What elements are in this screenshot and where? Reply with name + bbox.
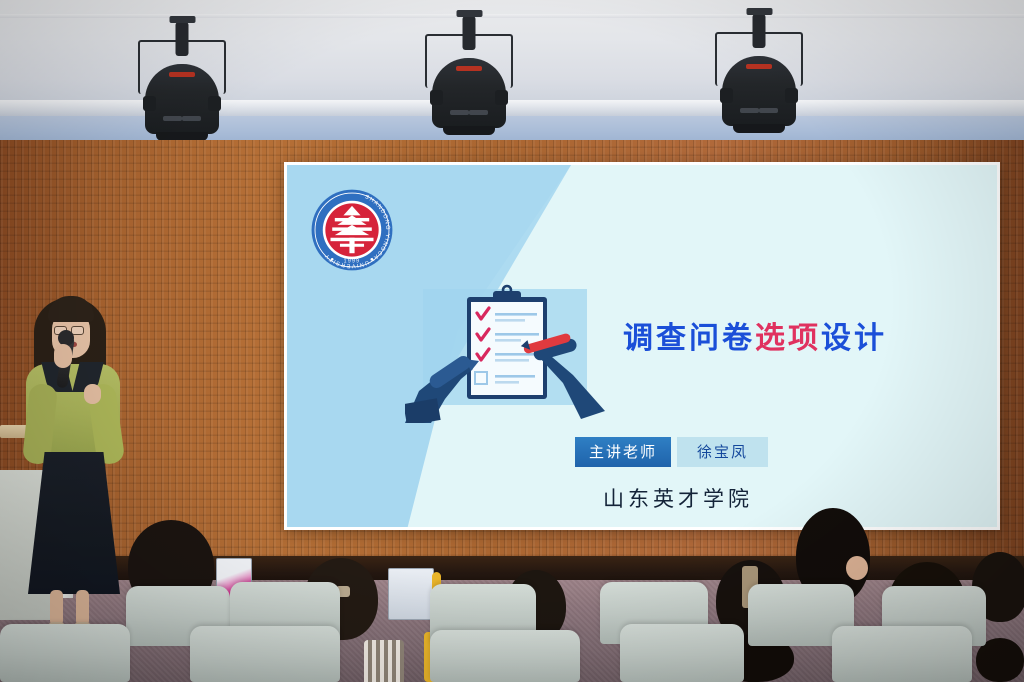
svg-text:1999: 1999 <box>344 259 361 265</box>
lecture-hall-scene: SHANDONG YINGCAI UNIVERSITY 1999 <box>0 0 1024 682</box>
audience-chair <box>190 626 340 682</box>
audience-hand <box>846 556 868 580</box>
light-indicator-icon <box>746 64 772 69</box>
slide-school-name: 山东英才学院 <box>603 483 753 513</box>
university-logo-icon: SHANDONG YINGCAI UNIVERSITY 1999 <box>309 187 395 273</box>
light-knob-left-icon <box>143 96 156 111</box>
light-indicator-icon <box>169 72 195 77</box>
ceiling-seam <box>0 14 1024 18</box>
audience-laptop[interactable] <box>388 568 434 620</box>
audience-chair <box>430 630 580 682</box>
light-foot-icon <box>443 126 495 135</box>
stage-light-left <box>145 22 219 144</box>
projection-screen[interactable]: SHANDONG YINGCAI UNIVERSITY 1999 <box>284 162 1000 530</box>
presenter <box>18 292 128 640</box>
light-stem-icon <box>463 16 476 50</box>
stage-light-right <box>722 14 796 136</box>
slide-title: 调查问卷选项设计 <box>623 313 887 357</box>
presenter-leg-right <box>76 590 89 626</box>
clipboard-survey-illustration <box>405 283 605 423</box>
presenter-skirt <box>28 452 120 594</box>
presenter-hand-right <box>84 384 101 404</box>
audience-chair <box>620 624 744 682</box>
light-vent-left-icon <box>163 116 182 121</box>
speaker-role-badge: 主讲老师 <box>575 437 671 467</box>
light-vent-right-icon <box>469 110 488 115</box>
slide-title-red: 选项 <box>755 322 821 355</box>
audience-chair <box>832 626 972 682</box>
presenter-hand-left <box>54 344 72 368</box>
light-indicator-icon <box>456 66 482 71</box>
light-stem-icon <box>176 22 189 56</box>
speaker-badge-row: 主讲老师 徐宝凤 <box>575 437 768 467</box>
audience-chair <box>0 624 130 682</box>
slide-title-blue-1: 调查问卷 <box>623 322 755 355</box>
light-knob-right-icon <box>208 96 221 111</box>
slide-title-blue-2: 设计 <box>821 322 887 355</box>
light-knob-left-icon <box>720 88 733 103</box>
light-foot-icon <box>733 124 785 133</box>
stage-light-center <box>432 16 506 138</box>
speaker-name-badge: 徐宝凤 <box>677 437 768 467</box>
presentation-slide: SHANDONG YINGCAI UNIVERSITY 1999 <box>287 165 997 527</box>
light-vent-left-icon <box>450 110 469 115</box>
light-vent-right-icon <box>182 116 201 121</box>
presenter-leg-left <box>50 590 63 626</box>
audience-striped-shirt <box>364 640 404 682</box>
light-stem-icon <box>753 14 766 48</box>
presenter-hair-top <box>48 296 94 322</box>
light-vent-left-icon <box>740 108 759 113</box>
light-knob-right-icon <box>785 88 798 103</box>
light-vent-right-icon <box>759 108 778 113</box>
light-knob-left-icon <box>430 90 443 105</box>
light-knob-right-icon <box>495 90 508 105</box>
